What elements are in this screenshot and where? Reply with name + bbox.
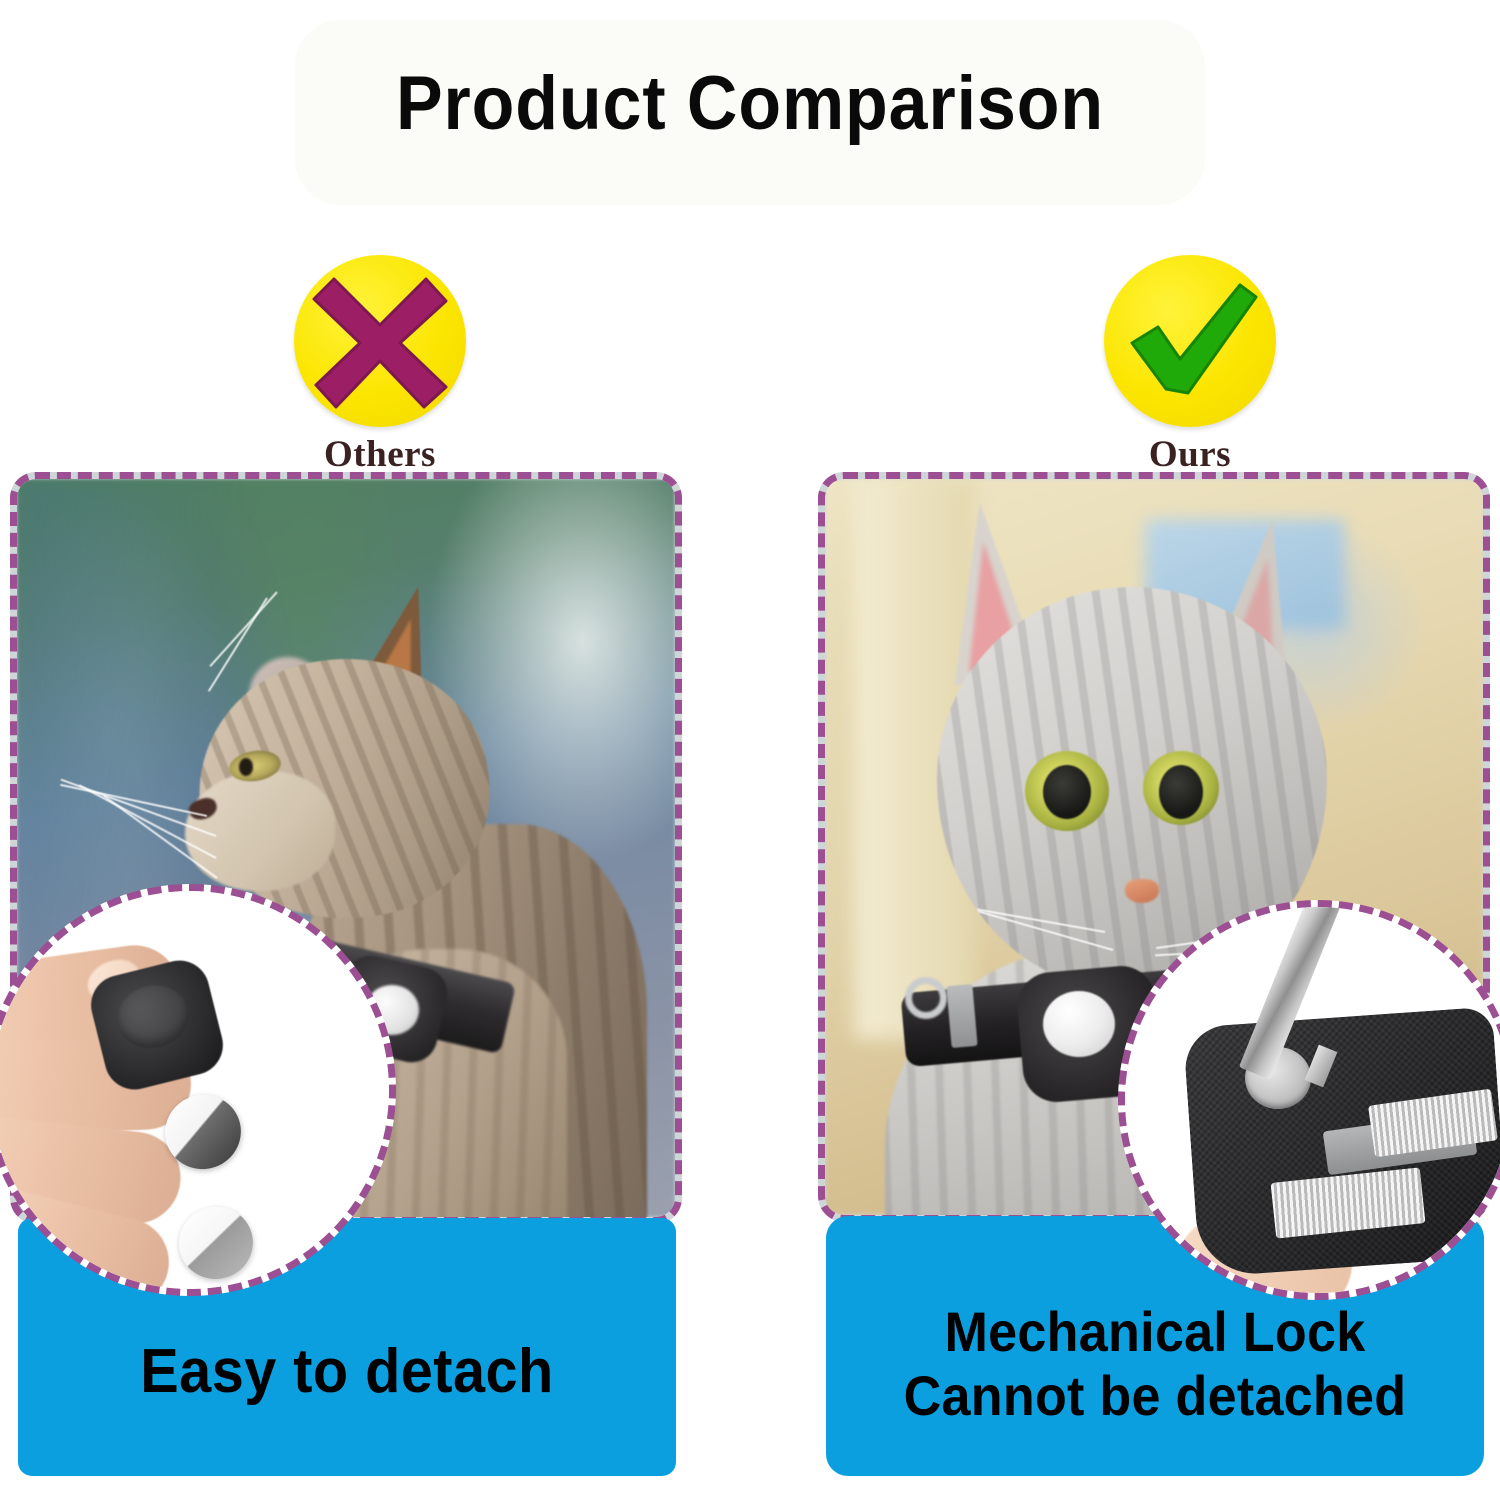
inset-others-detach: [0, 884, 396, 1296]
caption-ours: Mechanical Lock Cannot be detached: [849, 1300, 1461, 1428]
collar-reflective-strip: [946, 984, 977, 1048]
cat-pupil-right: [1159, 765, 1203, 819]
badge-label-ours: Ours: [1060, 433, 1320, 476]
badge-label-others: Others: [250, 433, 510, 476]
caption-others: Easy to detach: [41, 1336, 653, 1407]
badge-circle-others: [294, 255, 466, 427]
badge-group-ours: Ours: [1060, 255, 1320, 476]
check-icon: [1104, 255, 1276, 427]
caption-ours-line-2: Cannot be detached: [849, 1364, 1461, 1428]
cat-nose: [1125, 879, 1159, 903]
cat-pupil-left: [1043, 765, 1091, 819]
airtag: [1043, 991, 1115, 1057]
airtag-falling-lower: [171, 1199, 260, 1287]
caption-ours-line-1: Mechanical Lock: [849, 1300, 1461, 1364]
badge-group-others: Others: [250, 255, 510, 476]
badge-circle-ours: [1104, 255, 1276, 427]
page-title: Product Comparison: [60, 60, 1440, 147]
collar-ring: [905, 977, 947, 1019]
cross-icon: [294, 255, 466, 427]
inset-ours-mechanical-lock: [1118, 900, 1500, 1300]
infographic-canvas: Product Comparison Others Ours: [0, 0, 1500, 1500]
cat-pupil: [239, 758, 253, 776]
